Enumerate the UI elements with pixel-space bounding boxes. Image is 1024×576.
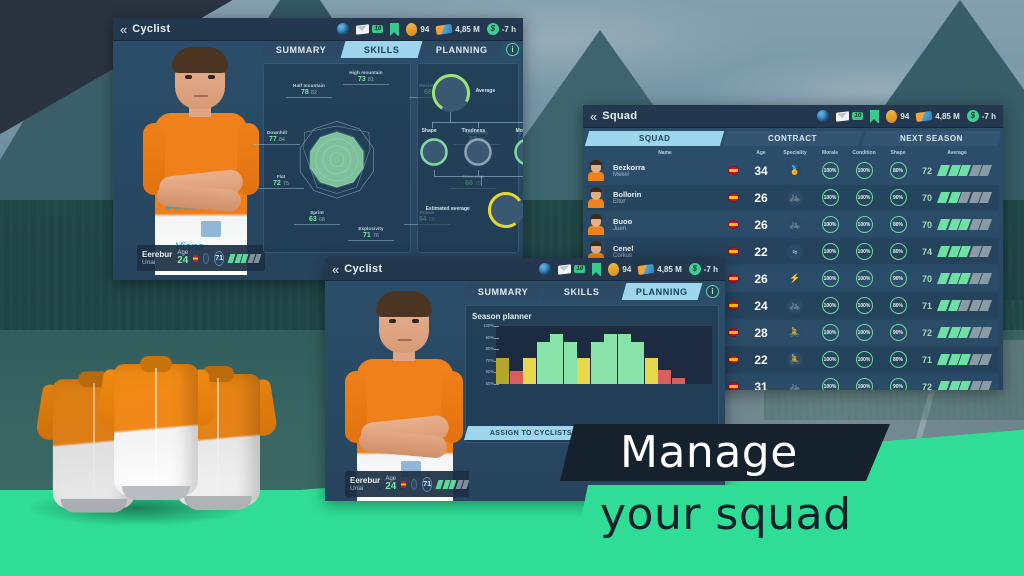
cell-age: 26 [745, 272, 777, 286]
table-row[interactable]: Buoo Juen 26 🚲 100% 100% 80% 70 [587, 212, 999, 237]
money-value: 4,85 M [935, 112, 959, 121]
cell-ring: 90% [881, 189, 915, 206]
mail-icon [356, 24, 369, 34]
cell-name: Bollorin Eltor [609, 190, 721, 206]
nameplate-surname: Unai [142, 259, 172, 267]
ring-value: 90% [890, 189, 907, 206]
cell-potential-bars [939, 381, 999, 390]
tab-contract-label: CONTRACT [769, 134, 818, 143]
chart-y-tick-label: 90% [468, 335, 494, 340]
jersey-group [38, 352, 288, 542]
spain-flag-icon [728, 220, 739, 229]
speciality-icon [203, 253, 209, 264]
avatar [587, 214, 605, 235]
col-condition[interactable]: Condition [847, 150, 881, 156]
coin-icon [886, 110, 897, 123]
cell-ring: 90% [881, 270, 915, 287]
cell-ring: 100% [847, 270, 881, 287]
globe-status[interactable] [337, 23, 349, 35]
rider-surname: Mekel [613, 172, 721, 179]
bookmark-icon [390, 23, 399, 36]
globe-status[interactable] [539, 263, 551, 275]
cell-age: 26 [745, 218, 777, 232]
cyclist-skills-right: SUMMARY SKILLS PLANNING i [263, 41, 519, 280]
cell-ring: 100% [813, 324, 847, 341]
chart-bar[interactable] [658, 370, 671, 384]
balance-status[interactable]: $ -7 h [689, 263, 718, 275]
tab-squad[interactable]: SQUAD [585, 131, 725, 146]
ring-value: 100% [822, 216, 839, 233]
titlebar: « Cyclist 10 94 4,85 M $ -7 h [113, 18, 523, 41]
cell-age: 26 [745, 191, 777, 205]
bookmark-status[interactable] [592, 263, 601, 276]
cyclist-skills-window: « Cyclist 10 94 4,85 M $ -7 h Anaid Vi [113, 18, 523, 280]
jersey [100, 352, 212, 502]
jersey-zipper [93, 383, 95, 501]
ring-value: 100% [822, 378, 839, 390]
cell-age: 24 [745, 299, 777, 313]
chart-bar[interactable] [496, 358, 509, 384]
col-name: Name [609, 150, 721, 156]
tab-planning[interactable]: PLANNING [621, 283, 702, 300]
dollar-icon: $ [689, 263, 701, 275]
spain-flag-icon [193, 255, 197, 262]
ring-value: 100% [856, 324, 873, 341]
radar-label-flat: Flat 7275 [258, 174, 304, 189]
cell-speciality[interactable]: 🏅 [777, 163, 813, 179]
nameplate-potential-bars [229, 254, 260, 263]
tab-planning[interactable]: PLANNING [421, 41, 503, 58]
tree-connector [478, 170, 479, 176]
tab-skills-label: SKILLS [565, 287, 601, 297]
average-label: Average [476, 88, 496, 94]
globe-icon [337, 23, 349, 35]
cell-speciality[interactable]: ≈ [777, 244, 813, 260]
tab-skills[interactable]: SKILLS [341, 41, 423, 58]
tab-next-season[interactable]: NEXT SEASON [862, 131, 1002, 146]
nameplate-age: Age 24 [177, 250, 188, 266]
tab-summary-label: SUMMARY [276, 45, 326, 55]
cyclist-icon: 🚴 [787, 325, 803, 341]
dollar-icon: $ [967, 110, 979, 122]
spain-flag-icon [728, 355, 739, 364]
cyclist-skills-body: Anaid Visna Eerebur Unai Age 24 [113, 41, 523, 280]
table-row[interactable]: Bollorin Eltor 26 🚲 100% 100% 90% 70 [587, 185, 999, 210]
balance-status[interactable]: $ -7 h [967, 110, 996, 122]
radar-axis-value: 71 [363, 232, 371, 239]
cell-ring: 100% [847, 297, 881, 314]
cell-ring: 90% [881, 324, 915, 341]
balance-status[interactable]: $ -7 h [487, 23, 516, 35]
radar-axis-potential: 81 [368, 77, 374, 83]
nameplate-surname: Unai [350, 485, 380, 493]
info-badge[interactable]: i [506, 43, 519, 56]
chart-y-tick-label: 50% [468, 381, 494, 386]
cell-ring: 80% [881, 162, 915, 179]
mail-icon [836, 111, 849, 121]
cell-potential-bars [939, 246, 999, 257]
ring-value: 90% [890, 378, 907, 390]
cell-average: 72 [915, 166, 939, 176]
tab-summary[interactable]: SUMMARY [463, 283, 544, 300]
season-planner-panel: Season planner 100%90%80%70%60%50% ASSIG… [465, 305, 719, 443]
coin-icon [608, 263, 619, 276]
mail-status[interactable]: 10 [356, 25, 383, 34]
avatar-eye-right [208, 75, 215, 79]
cyclist-avatar: Anaid Visna Eerebur Unai Age 24 [339, 285, 469, 501]
rider-surname: Juen [613, 226, 721, 233]
cell-potential-bars [939, 192, 999, 203]
bookmark-status[interactable] [870, 110, 879, 123]
ring-value: 100% [822, 324, 839, 341]
ring-value: 100% [856, 216, 873, 233]
coin-status[interactable]: 94 [608, 263, 631, 276]
radar-axis-potential: 75 [283, 181, 289, 187]
tree-connector [434, 176, 523, 177]
planning-tree-panel: Average Shape Tiredness Morale [417, 63, 519, 253]
spain-flag-icon [728, 166, 739, 175]
ring-value: 80% [890, 243, 907, 260]
back-icon[interactable]: « [332, 262, 337, 277]
chart-bar[interactable] [645, 358, 658, 384]
tab-planning-label: PLANNING [636, 287, 688, 297]
avatar [587, 187, 605, 208]
ring-value: 100% [856, 351, 873, 368]
cell-ring: 100% [813, 297, 847, 314]
col-shape[interactable]: Shape [881, 150, 915, 156]
tab-squad-label: SQUAD [639, 134, 670, 143]
cell-age: 22 [745, 353, 777, 367]
sprint-icon: ⚡ [787, 271, 803, 287]
avatar-eye-right [412, 319, 419, 323]
mail-count-badge: 10 [574, 265, 585, 273]
bike-icon: 🚲 [787, 379, 803, 391]
col-morale[interactable]: Morale [813, 150, 847, 156]
estimated-average-label: Estimated average [426, 206, 470, 212]
cell-ring: 100% [813, 378, 847, 390]
tree-connector [450, 112, 451, 122]
radar-label-downhill: Downhill 7784 [254, 130, 300, 145]
rider-surname: Eltor [613, 199, 721, 206]
radar-axis-value: 63 [309, 216, 317, 223]
col-average[interactable]: Average [915, 150, 999, 156]
globe-status[interactable] [817, 110, 829, 122]
ring-value: 100% [856, 189, 873, 206]
bookmark-status[interactable] [390, 23, 399, 36]
bike-icon: 🚲 [787, 217, 803, 233]
cell-ring: 90% [881, 378, 915, 390]
chart-bar[interactable] [604, 334, 617, 384]
chart-bar[interactable] [618, 334, 631, 384]
chart-bar[interactable] [523, 358, 536, 384]
rider-name: Buoo [613, 217, 721, 226]
tree-connector [434, 170, 435, 176]
radar-axis-label: High mountain [343, 70, 389, 76]
ring-value: 100% [856, 162, 873, 179]
money-status[interactable]: 4,85 M [436, 25, 479, 34]
dollar-icon: $ [487, 23, 499, 35]
cell-flag [721, 193, 745, 202]
cell-average: 70 [915, 274, 939, 284]
ring-value: 90% [890, 270, 907, 287]
average-node-ring [432, 74, 470, 112]
tab-summary[interactable]: SUMMARY [261, 41, 343, 58]
bike-icon: 🚲 [787, 190, 803, 206]
coin-status[interactable]: 94 [406, 23, 429, 36]
cell-potential-bars [939, 354, 999, 365]
radar-label-explosivity: Explosivity 7176 [348, 226, 394, 241]
nameplate-age: Age 24 [385, 476, 396, 492]
cell-speciality[interactable]: 🚲 [777, 298, 813, 314]
squad-tab-bar: SQUAD CONTRACT NEXT SEASON [587, 131, 999, 146]
banknote-icon [638, 263, 655, 274]
mountain-icon: ≈ [787, 244, 803, 260]
ring-value: 100% [856, 243, 873, 260]
chart-y-tick-label: 100% [468, 323, 494, 328]
ring-value: 100% [856, 270, 873, 287]
mail-count-badge: 10 [852, 112, 863, 120]
cell-portrait [587, 214, 609, 235]
cell-ring: 100% [813, 216, 847, 233]
ring-value: 100% [822, 189, 839, 206]
mail-icon [558, 264, 571, 274]
rider-name: Bezkorra [613, 163, 721, 172]
assign-to-cyclists-label: ASSIGN TO CYCLISTS [490, 430, 572, 437]
money-value: 4,85 M [455, 25, 479, 34]
chart-bar[interactable] [510, 371, 523, 384]
chart-bar[interactable] [564, 342, 577, 384]
chart-bar[interactable] [550, 334, 563, 384]
cell-ring: 100% [813, 189, 847, 206]
mail-status[interactable]: 10 [836, 112, 863, 121]
avatar-hair [172, 47, 228, 73]
spain-flag-icon [728, 301, 739, 310]
cell-ring: 100% [813, 270, 847, 287]
globe-icon [539, 263, 551, 275]
cyclist-nameplate: Eerebur Unai Age 24 71 [345, 471, 469, 497]
ring-value: 80% [890, 297, 907, 314]
spain-flag-icon [728, 328, 739, 337]
cell-ring: 100% [847, 189, 881, 206]
ring-value: 80% [890, 216, 907, 233]
cell-average: 74 [915, 247, 939, 257]
radar-axis-potential: 84 [279, 137, 285, 143]
ring-value: 80% [890, 351, 907, 368]
rider-name: Bollorin [613, 190, 721, 199]
cell-potential-bars [939, 300, 999, 311]
cell-age: 22 [745, 245, 777, 259]
cell-ring: 100% [847, 162, 881, 179]
jersey-zipper [155, 368, 157, 488]
promo-headline-line2: your squad [600, 489, 930, 541]
cell-potential-bars [939, 219, 999, 230]
chart-y-tick-label: 60% [468, 369, 494, 374]
nameplate-age-value: 24 [385, 482, 396, 492]
table-row[interactable]: Bezkorra Mekel 34 🏅 100% 100% 80% 72 [587, 158, 999, 183]
tab-skills-label: SKILLS [364, 45, 400, 55]
money-value: 4,85 M [657, 265, 681, 274]
radar-label-high-mountain: High mountain 7381 [343, 70, 389, 85]
ring-value: 100% [822, 162, 839, 179]
cell-average: 72 [915, 382, 939, 391]
tab-bar: SUMMARY SKILLS PLANNING i [465, 283, 719, 300]
info-badge[interactable]: i [706, 285, 719, 298]
radar-axis-potential: 82 [311, 90, 317, 96]
globe-icon [817, 110, 829, 122]
titlebar: « Squad 10 94 4,85 M $ -7 h [583, 105, 1003, 128]
cell-average: 71 [915, 355, 939, 365]
cell-flag [721, 247, 745, 256]
mail-count-badge: 10 [372, 25, 383, 33]
nameplate-rating: 71 [214, 251, 224, 266]
nameplate-rating: 71 [422, 477, 432, 492]
col-speciality[interactable]: Speciality [777, 150, 813, 156]
cell-age: 34 [745, 164, 777, 178]
cell-average: 70 [915, 193, 939, 203]
coin-value: 94 [420, 25, 429, 34]
cell-speciality[interactable]: 🚲 [777, 190, 813, 206]
cell-potential-bars [939, 327, 999, 338]
ring-value: 100% [822, 270, 839, 287]
chart-bars[interactable] [496, 326, 712, 384]
mail-status[interactable]: 10 [558, 265, 585, 274]
cell-portrait [587, 160, 609, 181]
nameplate-potential-bars [437, 480, 468, 489]
cell-flag [721, 166, 745, 175]
ring-value: 90% [890, 324, 907, 341]
radar-axis-potential: 68 [319, 217, 325, 223]
tab-bar: SUMMARY SKILLS PLANNING i [263, 41, 519, 58]
tab-next-season-label: NEXT SEASON [900, 134, 963, 143]
cyclist-icon: 🚴 [787, 352, 803, 368]
cell-average: 71 [915, 301, 939, 311]
avatar-hair [376, 291, 432, 317]
cell-ring: 100% [847, 351, 881, 368]
spain-flag-icon [728, 193, 739, 202]
cyclist-nameplate: Eerebur Unai Age 24 71 [137, 245, 265, 271]
titlebar: « Cyclist 10 94 4,85 M $ -7 h [325, 258, 725, 281]
cell-ring: 100% [847, 243, 881, 260]
radar-label-sprint: Sprint 6368 [294, 210, 340, 225]
spain-flag-icon [728, 274, 739, 283]
morale-node-ring [514, 138, 523, 166]
coin-icon [406, 23, 417, 36]
avatar-mouth [194, 95, 208, 97]
speciality-icon [411, 479, 417, 490]
nameplate-name: Eerebur [350, 476, 380, 485]
chart-y-tick-label: 80% [468, 346, 494, 351]
cell-ring: 80% [881, 351, 915, 368]
nameplate-age-value: 24 [177, 256, 188, 266]
col-age[interactable]: Age [745, 150, 777, 156]
spain-flag-icon [728, 382, 739, 390]
cell-name: Bezkorra Mekel [609, 163, 721, 179]
radar-axis-value: 77 [269, 136, 277, 143]
cell-potential-bars [939, 165, 999, 176]
cell-potential-bars [939, 273, 999, 284]
cell-ring: 100% [813, 351, 847, 368]
back-icon[interactable]: « [120, 22, 125, 37]
window-title: Squad [602, 110, 637, 122]
chart-y-tick-label: 70% [468, 358, 494, 363]
banknote-icon [916, 110, 933, 121]
money-status[interactable]: 4,85 M [916, 112, 959, 121]
coin-value: 94 [622, 265, 631, 274]
radar-axis-value: 72 [273, 180, 281, 187]
balance-value: -7 h [982, 112, 996, 121]
coin-status[interactable]: 94 [886, 110, 909, 123]
ring-value: 100% [856, 378, 873, 390]
cell-ring: 80% [881, 243, 915, 260]
season-planner-chart: 100%90%80%70%60%50% [496, 326, 712, 384]
shape-node-ring [420, 138, 448, 166]
cell-speciality[interactable]: 🚴 [777, 352, 813, 368]
jersey-zipper [217, 378, 219, 498]
cell-average: 72 [915, 328, 939, 338]
cell-speciality[interactable]: ⚡ [777, 271, 813, 287]
coin-value: 94 [900, 112, 909, 121]
spain-flag-icon [401, 481, 405, 488]
cell-speciality[interactable]: 🚲 [777, 379, 813, 391]
balance-value: -7 h [502, 25, 516, 34]
cell-portrait [587, 187, 609, 208]
nameplate-name: Eerebur [142, 250, 172, 259]
cell-age: 28 [745, 326, 777, 340]
radar-label-half-mountain: Half mountain 7882 [286, 83, 332, 98]
season-planner-title: Season planner [472, 312, 712, 321]
cyclist-avatar: Anaid Visna Eerebur Unai Age 24 [131, 45, 271, 275]
cell-ring: 100% [813, 243, 847, 260]
cell-ring: 100% [813, 162, 847, 179]
bike-icon: 🚲 [787, 298, 803, 314]
bookmark-icon [592, 263, 601, 276]
chart-bar[interactable] [631, 342, 644, 384]
ring-value: 100% [856, 297, 873, 314]
back-icon[interactable]: « [590, 109, 595, 124]
chart-bar[interactable] [577, 358, 590, 384]
cell-ring: 80% [881, 216, 915, 233]
window-title: Cyclist [344, 263, 382, 275]
avatar-eye-left [185, 75, 192, 79]
chart-bar[interactable] [591, 342, 604, 384]
window-title: Cyclist [132, 23, 170, 35]
skills-subpanels: High mountain 7381 Resistance 6877 Recov… [263, 63, 519, 253]
cell-age: 31 [745, 380, 777, 391]
shape-label: Shape [422, 128, 437, 134]
tab-contract[interactable]: CONTRACT [723, 131, 863, 146]
tab-summary-label: SUMMARY [478, 287, 528, 297]
cell-ring: 100% [847, 324, 881, 341]
chart-bar[interactable] [672, 378, 685, 384]
cell-speciality[interactable]: 🚲 [777, 217, 813, 233]
avatar [587, 160, 605, 181]
tiredness-node-ring [464, 138, 492, 166]
jersey-badge [201, 221, 221, 237]
banknote-icon [436, 23, 453, 34]
cell-name: Buoo Juen [609, 217, 721, 233]
chart-bar[interactable] [537, 342, 550, 384]
ring-value: 100% [822, 351, 839, 368]
promo-headline-line1: Manage [620, 427, 920, 479]
cell-speciality[interactable]: 🚴 [777, 325, 813, 341]
bookmark-icon [870, 110, 879, 123]
avatar-mouth [398, 339, 412, 341]
morale-label: Morale [516, 128, 523, 134]
radar-chart-panel: High mountain 7381 Resistance 6877 Recov… [263, 63, 411, 253]
ring-value: 100% [822, 243, 839, 260]
tab-skills[interactable]: SKILLS [542, 283, 623, 300]
money-status[interactable]: 4,85 M [638, 265, 681, 274]
